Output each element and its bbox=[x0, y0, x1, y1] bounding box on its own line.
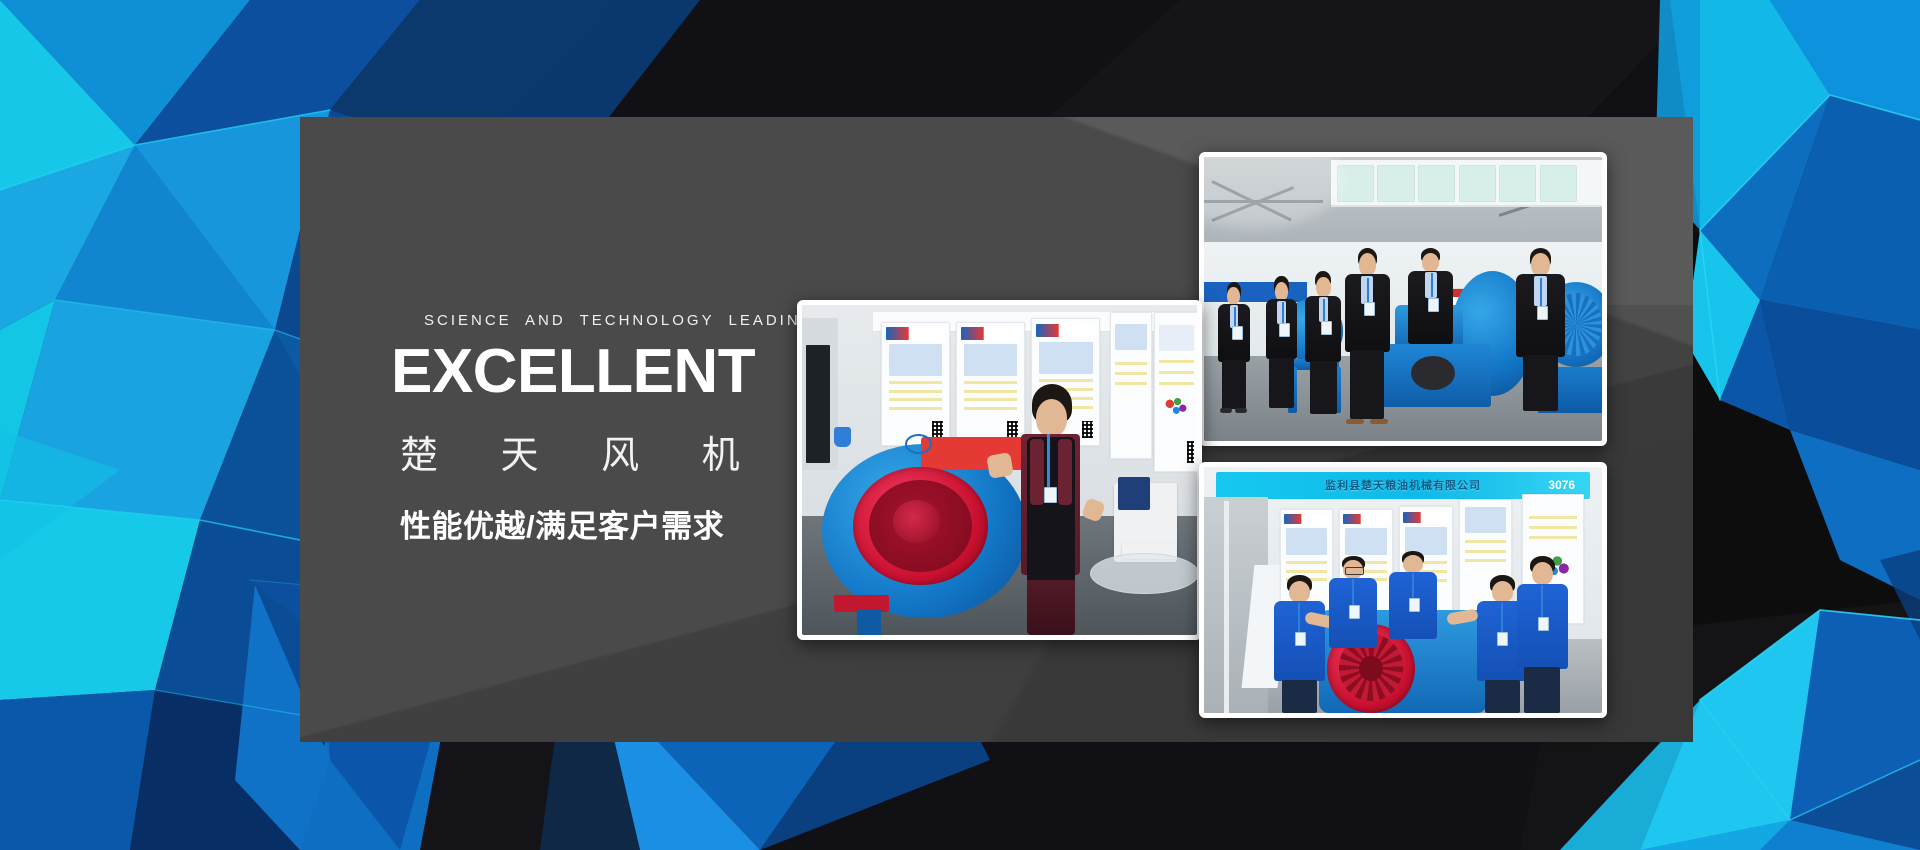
person-presenter-woman bbox=[1007, 384, 1094, 635]
person-polo-3 bbox=[1387, 551, 1439, 659]
booth-sign-number: 3076 bbox=[1548, 478, 1575, 492]
hero-text-block: SCIENCE AND TECHNOLOGY LEADING EXCELLENT… bbox=[392, 312, 812, 546]
hero-brand: 楚 天 风 机 bbox=[400, 424, 812, 479]
hero-slogan: 性能优越/满足客户需求 bbox=[400, 501, 812, 546]
banner-panel bbox=[1499, 165, 1536, 202]
photo-team-blue-polo-image: 监利县楚天粮油机械有限公司 3076 bbox=[1204, 467, 1602, 713]
banner-panel bbox=[1459, 165, 1496, 202]
booth-poster bbox=[881, 322, 950, 446]
glasses bbox=[1345, 567, 1364, 575]
booth-sign-company: 监利县楚天粮油机械有限公司 bbox=[1325, 477, 1481, 493]
sleeve bbox=[1058, 439, 1072, 504]
hero-headline: EXCELLENT bbox=[391, 341, 812, 403]
photo-woman-with-fan-image bbox=[802, 305, 1197, 635]
fan-leg bbox=[857, 609, 881, 635]
bag-on-chair bbox=[1118, 477, 1150, 510]
hero-tagline: SCIENCE AND TECHNOLOGY LEADING bbox=[424, 312, 812, 329]
person-suit-4 bbox=[1343, 248, 1391, 424]
banner-panel bbox=[1418, 165, 1455, 202]
arm-pointing bbox=[987, 452, 1015, 478]
booth-poster bbox=[1154, 312, 1197, 472]
dress-fringe bbox=[1027, 580, 1076, 635]
person-polo-5 bbox=[1514, 556, 1570, 713]
banner-panel bbox=[1377, 165, 1414, 202]
trash-bin bbox=[834, 427, 852, 447]
banner-panel bbox=[1540, 165, 1577, 202]
photo-woman-with-fan[interactable] bbox=[797, 300, 1202, 640]
person-suit-1 bbox=[1216, 282, 1252, 413]
person-suit-6 bbox=[1514, 248, 1566, 413]
person-suit-3 bbox=[1304, 271, 1344, 419]
photo-team-blue-polo[interactable]: 监利县楚天粮油机械有限公司 3076 bbox=[1199, 462, 1607, 718]
person-polo-2 bbox=[1327, 556, 1379, 669]
sleeve bbox=[1030, 439, 1044, 504]
photo-team-suits[interactable]: CT 7.5kW bbox=[1199, 152, 1607, 446]
booth-post bbox=[1224, 501, 1229, 713]
glass-table bbox=[1090, 553, 1197, 595]
person-suit-2 bbox=[1264, 276, 1300, 412]
booth-poster bbox=[1110, 312, 1152, 459]
doorway bbox=[806, 345, 830, 464]
photo-team-suits-image: CT 7.5kW bbox=[1204, 157, 1602, 441]
fan-hub-center bbox=[893, 500, 940, 543]
person-polo-1 bbox=[1272, 575, 1328, 713]
banner-stage: SCIENCE AND TECHNOLOGY LEADING EXCELLENT… bbox=[0, 0, 1920, 850]
overhead-banner-board bbox=[1331, 160, 1602, 207]
person-suit-5 bbox=[1407, 248, 1455, 367]
